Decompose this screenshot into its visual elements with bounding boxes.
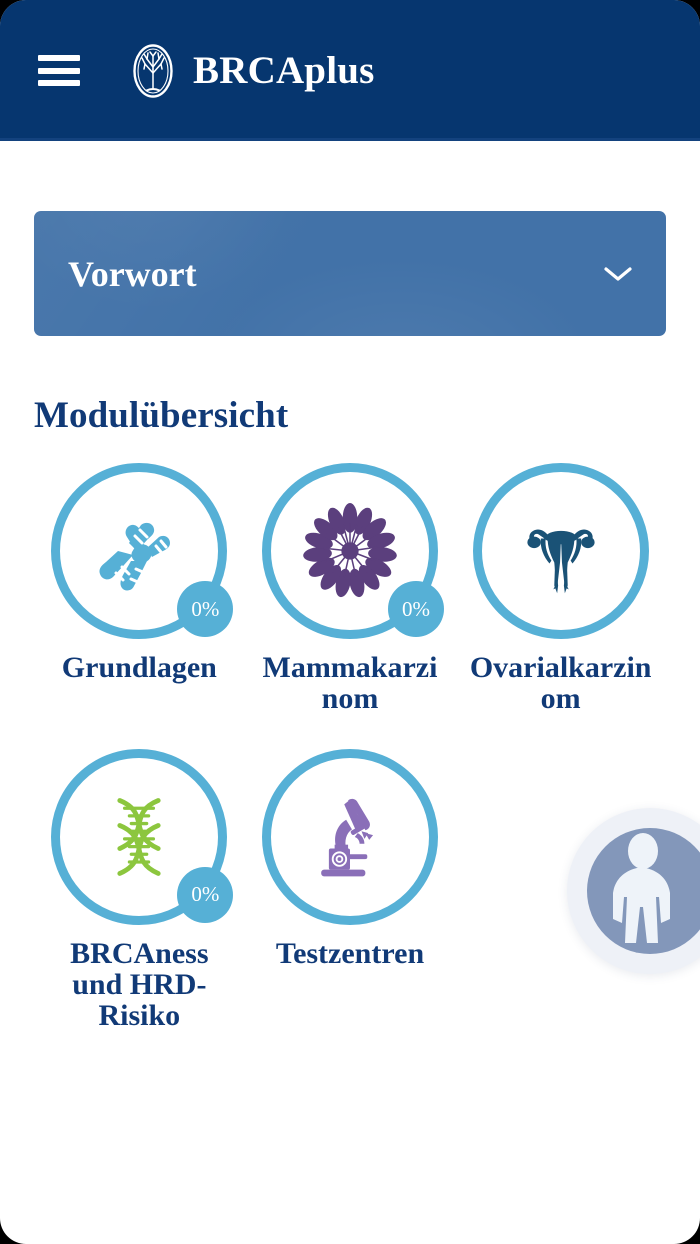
progress-ring-wrap: 0% xyxy=(51,749,227,925)
hamburger-bar xyxy=(38,80,80,86)
tree-in-oval-logo-icon xyxy=(132,43,174,99)
module-card-testzentren[interactable]: Testzentren xyxy=(245,749,456,1032)
app-title: BRCAplus xyxy=(193,48,375,93)
chevron-down-icon[interactable] xyxy=(603,265,633,283)
progress-badge: 0% xyxy=(177,867,233,923)
hamburger-bar xyxy=(38,68,80,74)
module-label: Ovarialkarzinom xyxy=(469,653,653,715)
module-card-grundlagen[interactable]: 0% Grundlagen xyxy=(34,463,245,715)
app-header: BRCAplus xyxy=(0,0,700,141)
progress-ring-wrap: 0% xyxy=(51,463,227,639)
dna-helix-icon xyxy=(91,789,187,885)
avatar xyxy=(587,828,700,954)
module-card-brcaness[interactable]: 0% BRCAness und HRD-Risiko xyxy=(34,749,245,1032)
accordion-vorwort[interactable]: Vorwort xyxy=(34,211,666,336)
module-label: Testzentren xyxy=(258,939,442,970)
module-label: BRCAness und HRD-Risiko xyxy=(47,939,231,1032)
app-screen: BRCAplus Vorwort Modulübersicht xyxy=(0,0,700,1244)
accordion-title: Vorwort xyxy=(68,253,197,295)
module-card-mammakarzinom[interactable]: 0% Mammakarzinom xyxy=(245,463,456,715)
progress-badge: 0% xyxy=(177,581,233,637)
breast-gland-flower-icon xyxy=(302,503,398,599)
chromosome-icon xyxy=(91,503,187,599)
hamburger-menu-icon[interactable] xyxy=(38,55,80,86)
module-grid: 0% Grundlagen xyxy=(34,463,666,1031)
hamburger-bar xyxy=(38,55,80,61)
module-label: Grundlagen xyxy=(47,653,231,684)
progress-badge: 0% xyxy=(388,581,444,637)
module-label: Mammakarzinom xyxy=(258,653,442,715)
progress-ring xyxy=(262,749,438,925)
progress-ring-wrap-outer xyxy=(473,463,649,639)
page-title: Modulübersicht xyxy=(34,394,666,437)
brand-home-link[interactable]: BRCAplus xyxy=(132,43,375,99)
uterus-ovaries-icon xyxy=(513,503,609,599)
progress-ring-wrap: 0% xyxy=(262,463,438,639)
module-card-ovarialkarzinom[interactable]: Ovarialkarzinom xyxy=(455,463,666,715)
progress-ring-wrap xyxy=(262,749,438,925)
person-silhouette-avatar-icon xyxy=(587,828,700,954)
microscope-icon xyxy=(302,789,398,885)
